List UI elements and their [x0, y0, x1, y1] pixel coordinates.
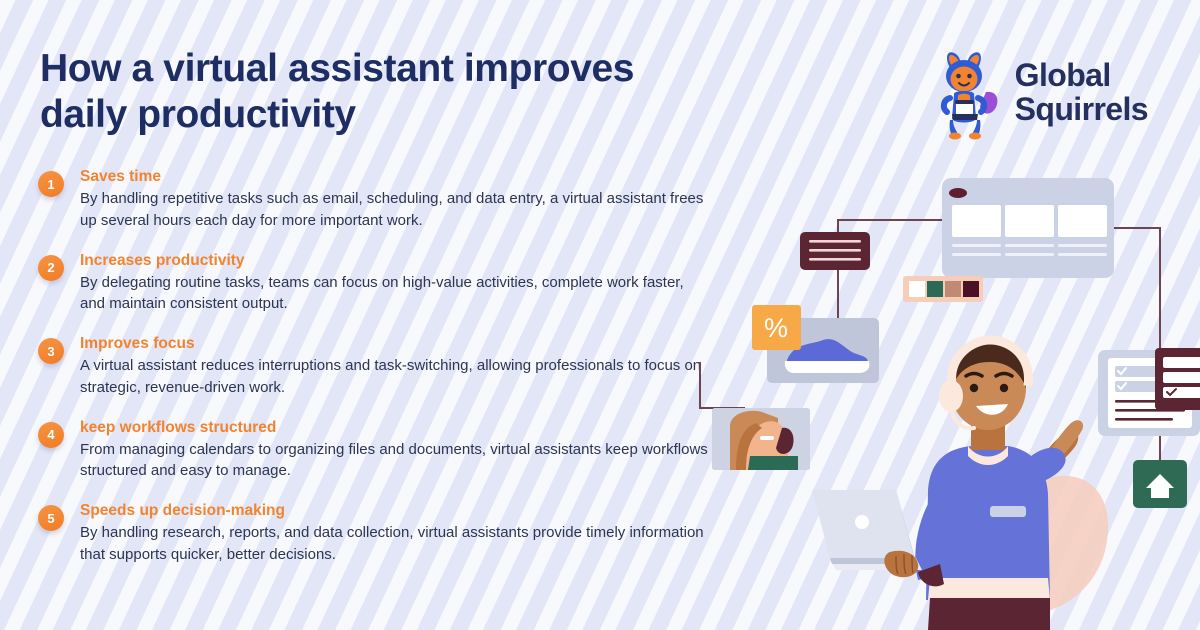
benefit-title: Increases productivity: [80, 252, 710, 270]
woman-on-phone-card: [712, 408, 810, 470]
squirrel-mascot-icon: [930, 44, 1002, 140]
dark-lines-card: [800, 232, 870, 270]
illustration-canvas: %: [690, 160, 1200, 630]
percent-badge: %: [752, 305, 801, 350]
assistant-with-headset: [812, 340, 1083, 630]
benefit-body: By delegating routine tasks, teams can f…: [80, 272, 710, 316]
benefit-number-badge: 5: [38, 505, 64, 531]
brand-logo: Global Squirrels: [930, 44, 1148, 140]
brand-name: Global Squirrels: [1015, 58, 1148, 126]
benefit-body: A virtual assistant reduces interruption…: [80, 355, 710, 399]
benefit-item-2: 2 Increases productivity By delegating r…: [38, 252, 710, 316]
benefit-item-3: 3 Improves focus A virtual assistant red…: [38, 335, 710, 399]
infographic-poster: How a virtual assistant improves daily p…: [0, 0, 1200, 630]
green-home-badge: [1133, 460, 1187, 508]
virtual-assistant-illustration: %: [690, 160, 1200, 630]
benefits-list: 1 Saves time By handling repetitive task…: [38, 168, 710, 566]
benefit-title: Speeds up decision-making: [80, 502, 710, 520]
benefit-body: By handling repetitive tasks such as ema…: [80, 188, 710, 232]
benefit-title: keep workflows structured: [80, 419, 710, 437]
maroon-form-card: [1155, 348, 1200, 410]
browser-window-card: [942, 178, 1114, 278]
benefit-body: By handling research, reports, and data …: [80, 522, 710, 566]
svg-text:%: %: [764, 313, 788, 343]
page-title: How a virtual assistant improves daily p…: [40, 46, 730, 138]
benefit-number-badge: 2: [38, 255, 64, 281]
benefit-number-badge: 1: [38, 171, 64, 197]
benefit-title: Saves time: [80, 168, 710, 186]
benefit-number-badge: 3: [38, 338, 64, 364]
benefit-item-5: 5 Speeds up decision-making By handling …: [38, 502, 710, 566]
color-palette-card: [903, 276, 983, 302]
benefit-number-badge: 4: [38, 422, 64, 448]
benefit-item-1: 1 Saves time By handling repetitive task…: [38, 168, 710, 232]
benefit-body: From managing calendars to organizing fi…: [80, 439, 710, 483]
benefit-item-4: 4 keep workflows structured From managin…: [38, 419, 710, 483]
benefit-title: Improves focus: [80, 335, 710, 353]
